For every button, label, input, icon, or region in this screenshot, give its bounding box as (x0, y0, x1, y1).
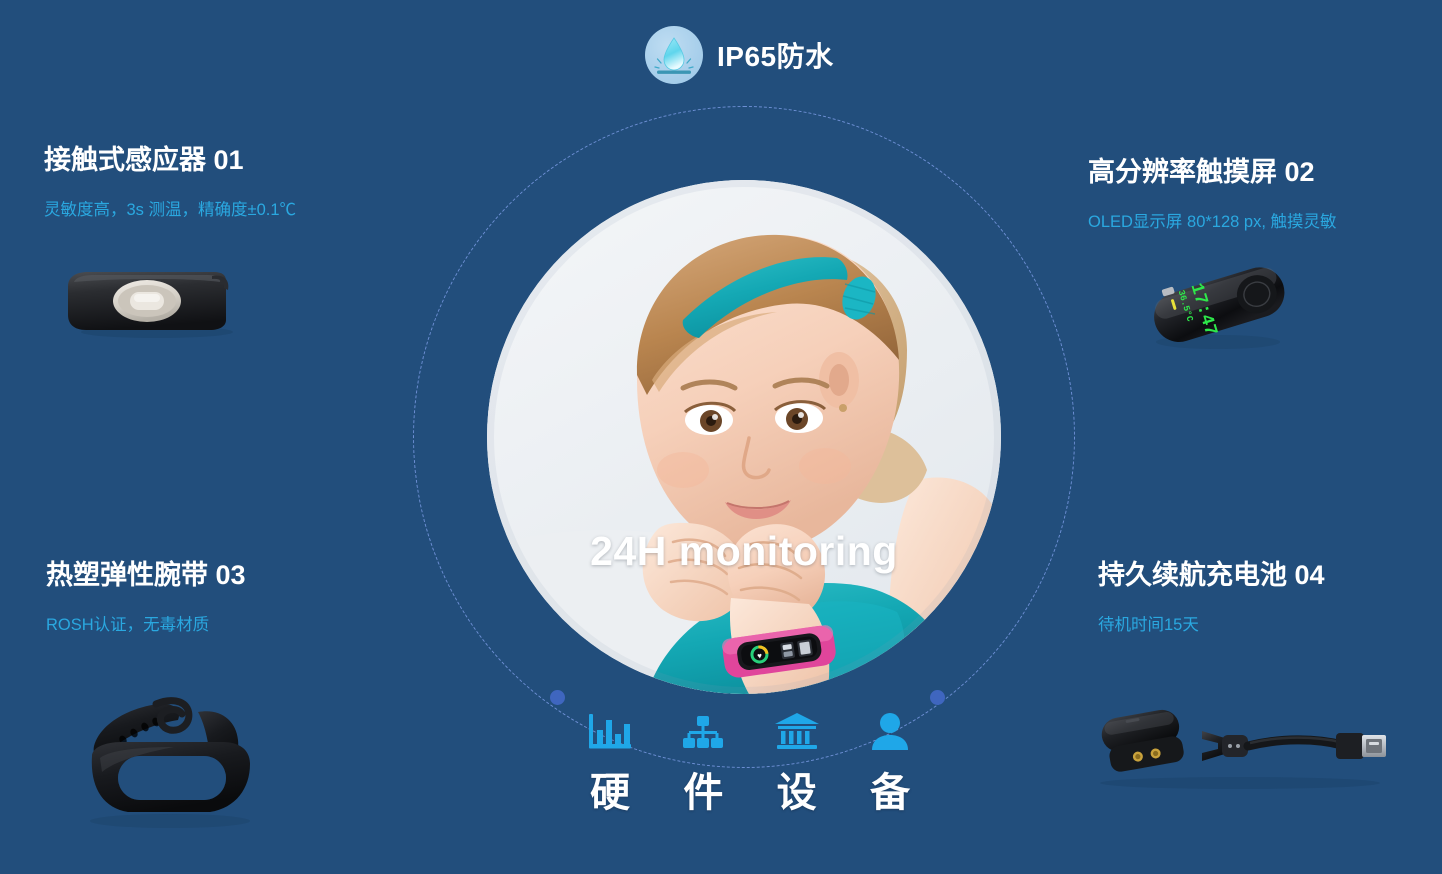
org-tree-icon (679, 706, 727, 754)
oled-tracker-glyph: 17:47 36.5°C (1138, 258, 1298, 352)
ip65-badge: IP65防水 (645, 26, 834, 84)
icon-label: 件 (683, 760, 723, 818)
charging-dock-usb-cable-photo (1090, 705, 1390, 789)
icon-cell-hardware: 硬 (570, 706, 650, 818)
wristband-glyph (70, 690, 270, 830)
silicone-wristband-photo (70, 690, 270, 830)
feature-title: 接触式感应器 01 (44, 138, 296, 177)
feature-block-02: 高分辨率触摸屏 02 OLED显示屏 80*128 px, 触摸灵敏 (1088, 150, 1337, 232)
overlay-caption: 24H monitoring (487, 528, 1001, 575)
water-drop-icon (645, 26, 703, 84)
feature-title: 热塑弹性腕带 03 (46, 553, 246, 592)
bar-chart-icon (586, 706, 634, 754)
water-drop-glyph (645, 26, 703, 84)
oled-touch-display-tracker-photo: 17:47 36.5°C (1138, 258, 1298, 352)
feature-title: 高分辨率触摸屏 02 (1088, 150, 1337, 189)
feature-block-04: 持久续航充电池 04 待机时间15天 (1098, 553, 1325, 635)
feature-block-01: 接触式感应器 01 灵敏度高，3s 测温，精确度±0.1℃ (44, 138, 296, 220)
feature-block-03: 热塑弹性腕带 03 ROSH认证，无毒材质 (46, 553, 246, 635)
icon-cell-device: 备 (850, 706, 930, 818)
icon-label: 设 (777, 760, 817, 818)
icon-cell-facility: 设 (757, 706, 837, 818)
toddler-photo: ♥ (487, 180, 1001, 694)
icon-label: 备 (870, 760, 910, 818)
person-icon (866, 706, 914, 754)
feature-subtitle: ROSH认证，无毒材质 (46, 611, 246, 635)
charger-cable-glyph (1090, 705, 1390, 789)
contact-sensor-module-photo (62, 268, 244, 338)
feature-title: 持久续航充电池 04 (1098, 553, 1325, 592)
feature-subtitle: 灵敏度高，3s 测温，精确度±0.1℃ (44, 196, 296, 220)
feature-subtitle: OLED显示屏 80*128 px, 触摸灵敏 (1088, 208, 1337, 232)
bank-icon (773, 706, 821, 754)
hardware-equipment-icon-row: 硬 件 (570, 706, 930, 818)
center-photo-circle: ♥ 24H monitoring (487, 180, 1001, 694)
icon-label: 硬 (590, 760, 630, 818)
sensor-module-glyph (62, 268, 244, 338)
badge-title: IP65防水 (717, 35, 834, 75)
infographic-canvas: IP65防水 (0, 0, 1442, 874)
feature-subtitle: 待机时间15天 (1098, 611, 1325, 635)
icon-cell-component: 件 (663, 706, 743, 818)
